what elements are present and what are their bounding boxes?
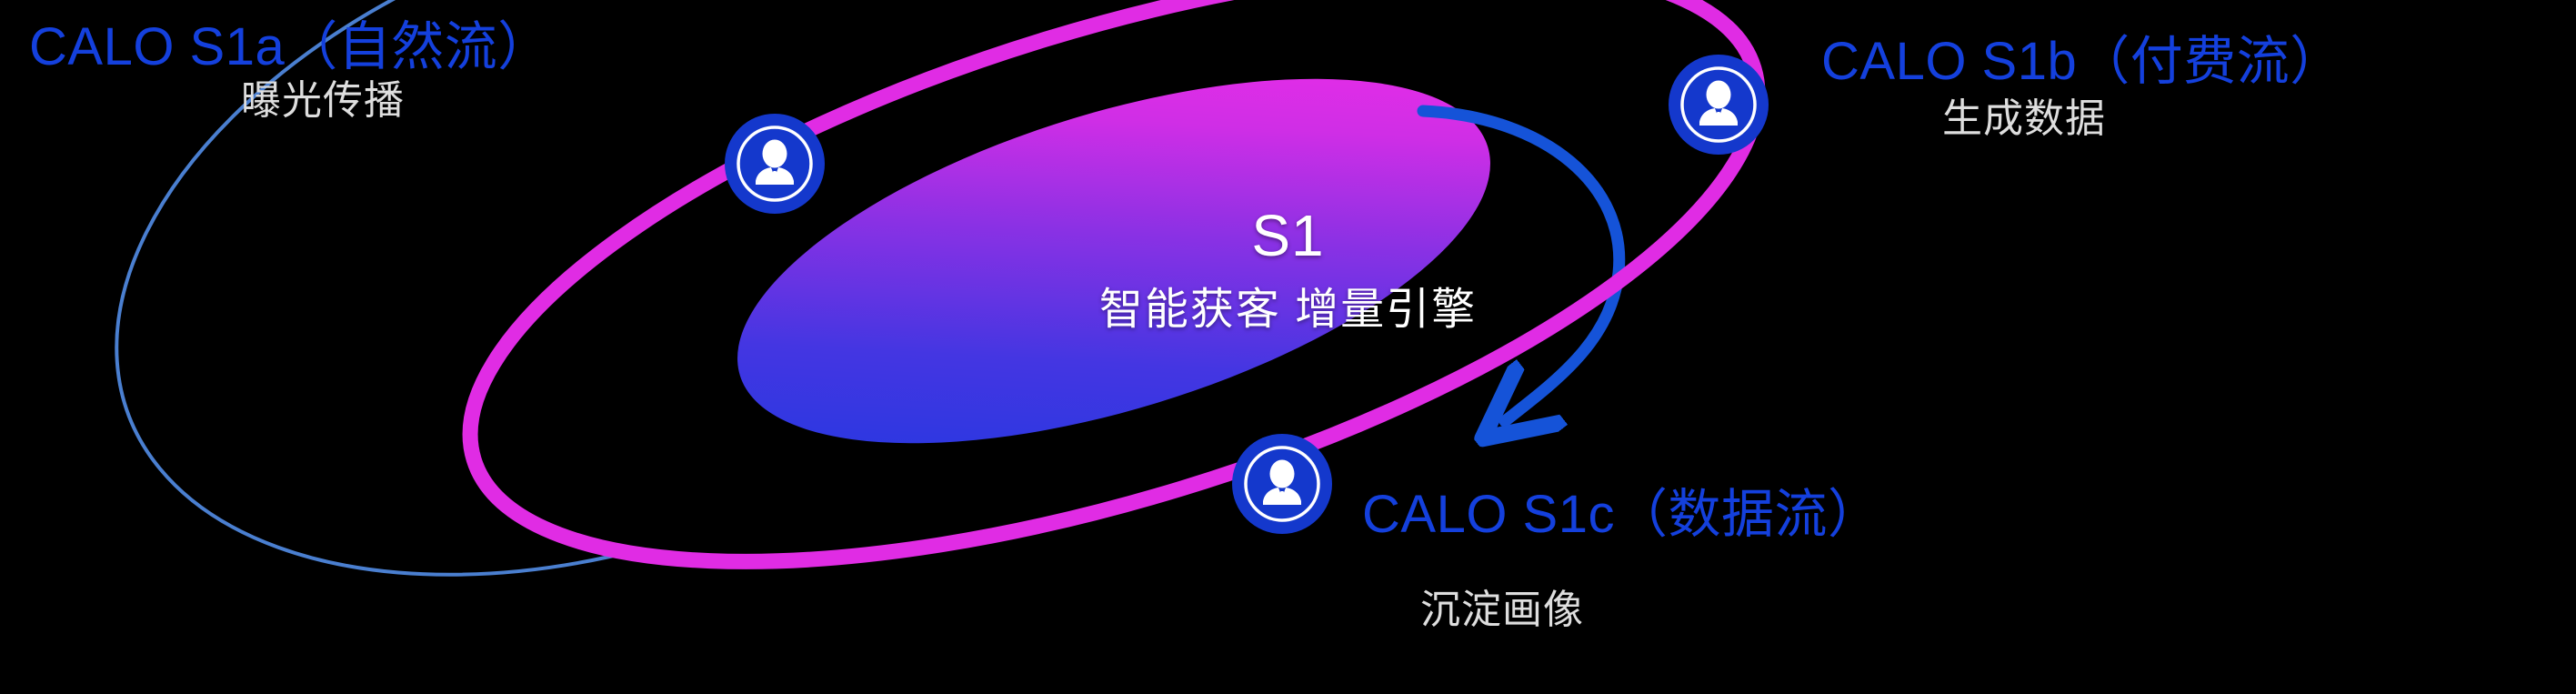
diagram-canvas: S1 智能获客 增量引擎 CALO S1a（自然流） 曝光传播 CALO S1b… xyxy=(0,0,2576,694)
core-ellipse xyxy=(697,5,1531,517)
flow-node-s1c[interactable] xyxy=(1232,434,1332,534)
flow-node-s1b[interactable] xyxy=(1669,55,1769,155)
orbit-diagram xyxy=(0,0,2576,694)
flow-node-s1a[interactable] xyxy=(725,114,825,214)
